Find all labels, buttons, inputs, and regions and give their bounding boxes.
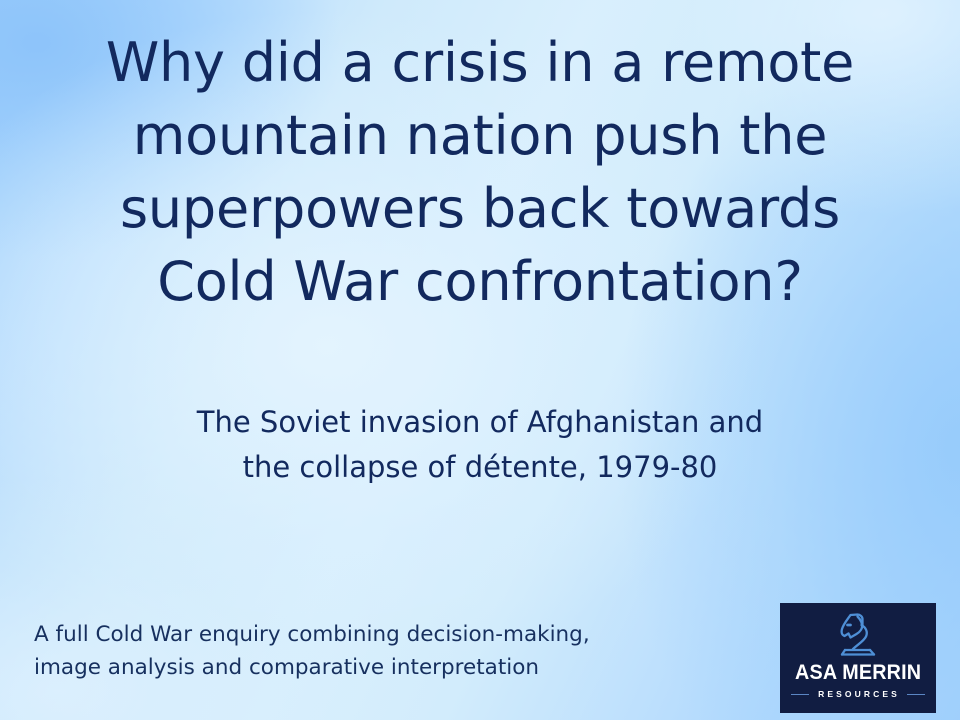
- logo-subtext-row: RESOURCES: [791, 689, 925, 699]
- slide-subtitle: The Soviet invasion of Afghanistan and t…: [60, 400, 900, 490]
- knight-chess-piece-icon: [835, 610, 881, 659]
- footer-note-line-2: image analysis and comparative interpret…: [34, 651, 754, 684]
- logo-wordmark: ASA MERRIN: [795, 662, 921, 684]
- slide-title: Why did a crisis in a remote mountain na…: [30, 26, 930, 318]
- subtitle-line-2: the collapse of détente, 1979-80: [60, 445, 900, 490]
- logo-rule-right: [907, 694, 925, 695]
- asa-merrin-logo: ASA MERRIN RESOURCES: [780, 603, 936, 713]
- logo-subtext: RESOURCES: [809, 689, 907, 699]
- subtitle-line-1: The Soviet invasion of Afghanistan and: [60, 400, 900, 445]
- slide-footer-note: A full Cold War enquiry combining decisi…: [34, 618, 754, 684]
- logo-rule-left: [791, 694, 809, 695]
- title-line-3: superpowers back towards: [30, 172, 930, 245]
- title-line-4: Cold War confrontation?: [30, 245, 930, 318]
- footer-note-line-1: A full Cold War enquiry combining decisi…: [34, 618, 754, 651]
- title-line-1: Why did a crisis in a remote: [30, 26, 930, 99]
- presentation-slide: Why did a crisis in a remote mountain na…: [0, 0, 960, 720]
- title-line-2: mountain nation push the: [30, 99, 930, 172]
